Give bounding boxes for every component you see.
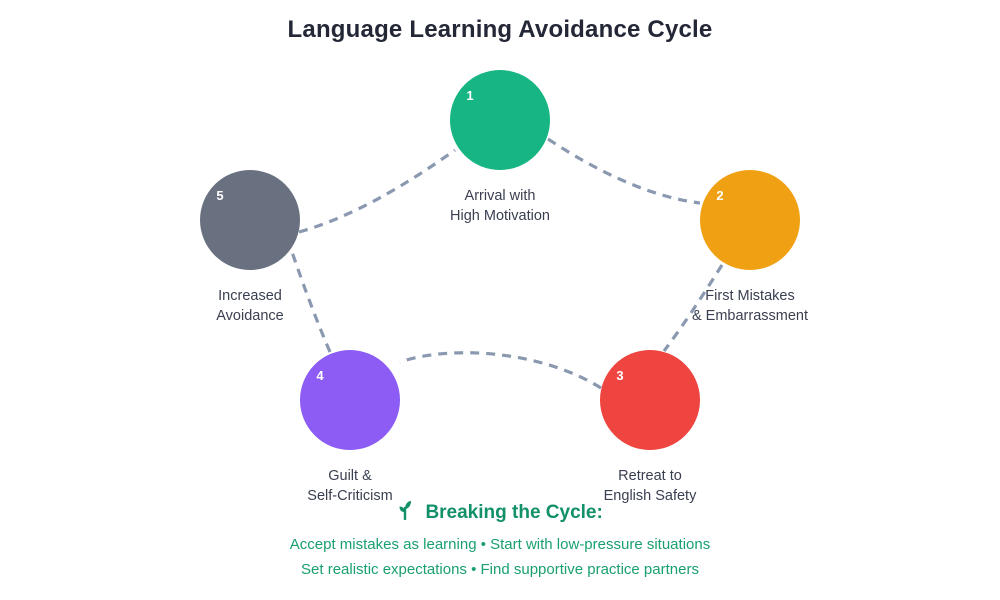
tip-line-2: Set realistic expectations • Find suppor… [0,561,1000,578]
node-label-line2-1: High Motivation [450,208,550,224]
node-number-4: 4 [316,368,324,383]
connector-4-to-5 [292,252,330,352]
tip-line-1: Accept mistakes as learning • Start with… [0,536,1000,553]
node-label-line2-2: & Embarrassment [692,308,808,324]
cycle-node-1[interactable]: 1Arrival withHigh Motivation [450,70,550,224]
connector-5-to-1 [299,150,455,232]
node-number-5: 5 [216,188,223,203]
connector-3-to-4 [400,353,601,388]
node-circle-4[interactable] [300,350,400,450]
node-label-line1-5: Increased [218,288,282,304]
breaking-the-cycle-heading: Breaking the Cycle: [0,500,1000,526]
cycle-node-2[interactable]: 2First Mistakes& Embarrassment [692,170,808,324]
node-label-line1-4: Guilt & [328,468,372,484]
node-circle-3[interactable] [600,350,700,450]
cycle-node-3[interactable]: 3Retreat toEnglish Safety [600,350,700,504]
connector-1-to-2 [548,139,700,203]
node-label-line2-5: Avoidance [216,308,283,324]
node-label-line1-2: First Mistakes [705,288,794,304]
node-number-1: 1 [466,88,473,103]
node-label-line1-1: Arrival with [465,188,536,204]
node-circle-2[interactable] [700,170,800,270]
node-number-3: 3 [616,368,623,383]
breaking-the-cycle-label: Breaking the Cycle: [425,502,602,523]
cycle-node-5[interactable]: 5IncreasedAvoidance [200,170,300,324]
nodes-group: 1Arrival withHigh Motivation2First Mista… [200,70,808,504]
diagram-canvas: Language Learning Avoidance Cycle 1Arriv… [0,0,1000,600]
cycle-node-4[interactable]: 4Guilt &Self-Criticism [300,350,400,504]
node-label-line1-3: Retreat to [618,468,682,484]
node-circle-5[interactable] [200,170,300,270]
sprout-icon [397,500,413,526]
node-circle-1[interactable] [450,70,550,170]
node-number-2: 2 [716,188,723,203]
